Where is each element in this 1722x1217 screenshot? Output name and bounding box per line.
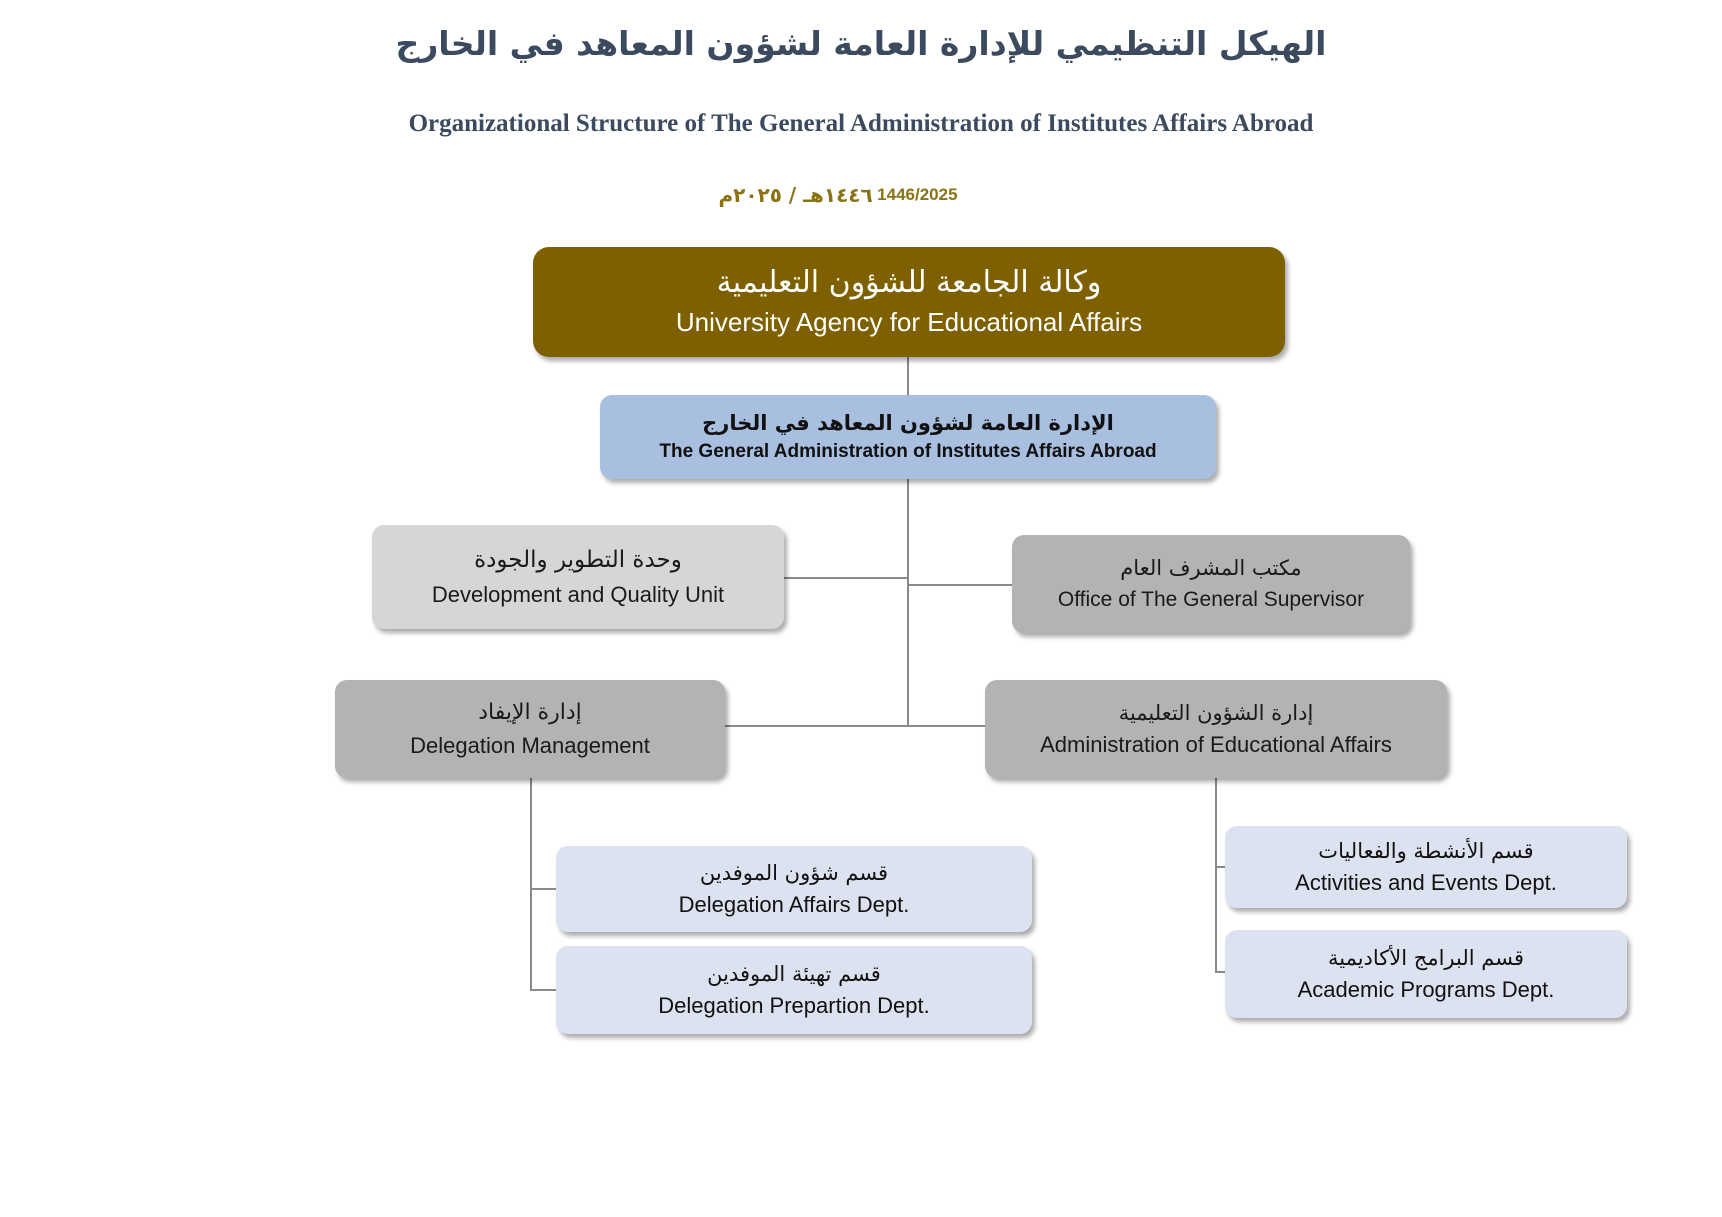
node-delegation-affairs-dept-label-ar: قسم شؤون الموفدين	[556, 861, 1032, 885]
node-activities-events-dept[interactable]: قسم الأنشطة والفعاليات Activities and Ev…	[1225, 826, 1627, 908]
page-title-english: Organizational Structure of The General …	[0, 110, 1722, 138]
node-office-general-supervisor-label-ar: مكتب المشرف العام	[1012, 556, 1410, 580]
node-academic-programs-dept-label-en: Academic Programs Dept.	[1225, 977, 1627, 1002]
node-activities-events-dept-label-en: Activities and Events Dept.	[1225, 870, 1627, 895]
connector-spine-to-delegation	[725, 725, 908, 727]
connector-spine-to-eduadmin	[907, 725, 986, 727]
node-office-general-supervisor-label-en: Office of The General Supervisor	[1012, 588, 1410, 612]
node-university-agency-label-en: University Agency for Educational Affair…	[533, 308, 1285, 338]
node-development-quality-unit[interactable]: وحدة التطوير والجودة Development and Qua…	[372, 525, 784, 629]
node-activities-events-dept-label-ar: قسم الأنشطة والفعاليات	[1225, 839, 1627, 863]
page-title-arabic: الهيكل التنظيمي للإدارة العامة لشؤون الم…	[0, 24, 1722, 63]
connector-gaia-to-supervisor	[907, 584, 1013, 586]
node-development-quality-unit-label-ar: وحدة التطوير والجودة	[372, 547, 784, 573]
connector-delegation-to-prep-dept	[530, 989, 558, 991]
node-delegation-management-label-ar: إدارة الإيفاد	[335, 700, 725, 725]
connector-delegation-to-affairs-dept	[530, 888, 558, 890]
node-delegation-preparation-dept-label-en: Delegation Prepartion Dept.	[556, 993, 1032, 1018]
node-delegation-affairs-dept[interactable]: قسم شؤون الموفدين Delegation Affairs Dep…	[556, 846, 1032, 932]
date-hijri-gregorian-arabic: ١٤٤٦هـ / ٢٠٢٥م	[718, 183, 872, 207]
connector-delegation-children-spine	[530, 778, 532, 990]
connector-gaia-to-development	[784, 577, 908, 579]
node-general-administration[interactable]: الإدارة العامة لشؤون المعاهد في الخارج T…	[600, 395, 1216, 479]
node-general-administration-label-ar: الإدارة العامة لشؤون المعاهد في الخارج	[600, 411, 1216, 435]
node-delegation-preparation-dept-label-ar: قسم تهيئة الموفدين	[556, 962, 1032, 986]
node-delegation-preparation-dept[interactable]: قسم تهيئة الموفدين Delegation Prepartion…	[556, 946, 1032, 1034]
node-delegation-management-label-en: Delegation Management	[335, 733, 725, 758]
node-administration-educational-affairs-label-en: Administration of Educational Affairs	[985, 732, 1447, 757]
connector-agency-to-gaia	[907, 357, 909, 395]
connector-eduadmin-children-spine	[1215, 778, 1217, 972]
date-hijri-gregorian-latin: 1446/2025	[877, 185, 957, 205]
node-university-agency[interactable]: وكالة الجامعة للشؤون التعليمية Universit…	[533, 247, 1285, 357]
node-office-general-supervisor[interactable]: مكتب المشرف العام Office of The General …	[1012, 535, 1410, 633]
node-delegation-affairs-dept-label-en: Delegation Affairs Dept.	[556, 892, 1032, 917]
node-university-agency-label-ar: وكالة الجامعة للشؤون التعليمية	[533, 266, 1285, 301]
node-development-quality-unit-label-en: Development and Quality Unit	[372, 582, 784, 607]
node-academic-programs-dept[interactable]: قسم البرامج الأكاديمية Academic Programs…	[1225, 930, 1627, 1018]
connector-gaia-spine	[907, 479, 909, 725]
node-general-administration-label-en: The General Administration of Institutes…	[600, 441, 1216, 463]
node-administration-educational-affairs[interactable]: إدارة الشؤون التعليمية Administration of…	[985, 680, 1447, 778]
node-administration-educational-affairs-label-ar: إدارة الشؤون التعليمية	[985, 701, 1447, 725]
node-academic-programs-dept-label-ar: قسم البرامج الأكاديمية	[1225, 946, 1627, 970]
date-row: ١٤٤٦هـ / ٢٠٢٥م 1446/2025	[0, 183, 1722, 207]
node-delegation-management[interactable]: إدارة الإيفاد Delegation Management	[335, 680, 725, 778]
